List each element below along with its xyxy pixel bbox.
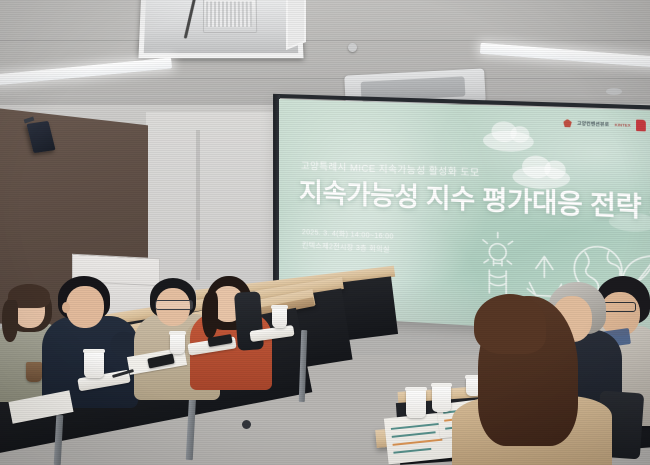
attendee-5-hair-front [474,294,546,354]
kintex-logo-icon [636,120,646,132]
paper-cup [432,386,451,412]
paper-cup [272,308,287,328]
meeting-room-photograph: 고양컨벤션뷰로 KINTEX 고양특례시 MICE 지속가능성 활성화 도모 지… [0,0,650,465]
logo-primary-label: 고양컨벤션뷰로 [577,120,609,127]
glasses-icon [155,300,193,310]
chair-wheel [242,420,251,429]
attendee-2-head [66,286,104,328]
projector-icon [203,0,257,33]
sprinkler-icon [348,43,357,52]
logo-secondary-label: KINTEX [615,122,631,128]
slide-logo-row: 고양컨벤션뷰로 KINTEX [563,117,646,131]
attendee-2-ear [62,302,70,313]
ceiling-access-hatch [138,0,303,58]
bureau-logo-icon [563,119,572,128]
door-frame [196,130,200,280]
cloud-icon [483,130,534,152]
chair [234,291,264,351]
attendee-1-hair-side [2,300,18,342]
hatch-flap [286,0,306,50]
attendee-4-hair-left [202,292,218,338]
paper-cup [170,334,185,354]
paper-cup [406,390,426,418]
table-leg [54,415,64,465]
smoke-detector-icon [606,88,622,95]
paper-cup [84,352,104,378]
slide-datetime: 2025. 3. 4(화) 14:00~16:00 [302,227,394,242]
coffee-cup [26,362,42,382]
slide-location: 킨텍스제2전시장 3층 회의실 [302,240,390,255]
slide-title: 지속가능성 지수 평가대응 전략 회의 [299,172,650,228]
